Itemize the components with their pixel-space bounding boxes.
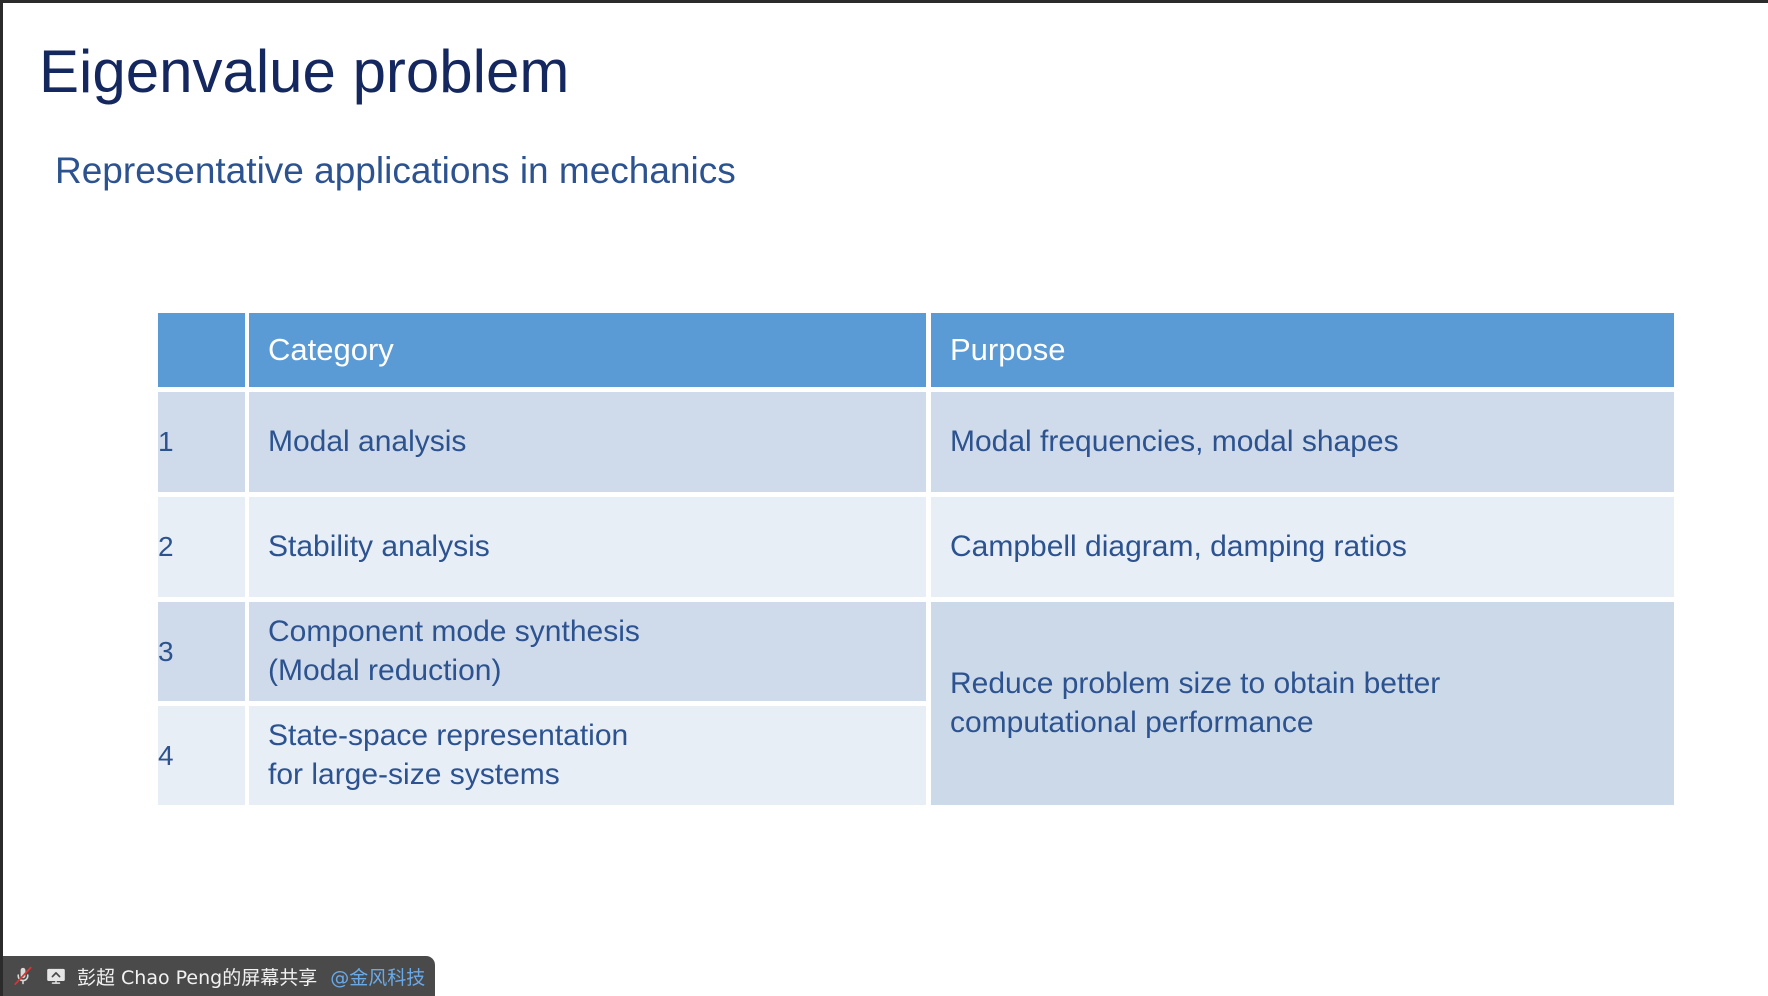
row-number: 3 [158,597,245,701]
applications-table: Category Purpose 1 Modal analysis Modal … [158,313,1674,805]
slide-canvas: Eigenvalue problem Representative applic… [0,0,1768,996]
merged-purpose-cell: Reduce problem size to obtain better com… [926,597,1674,805]
row-purpose-text: Campbell diagram, damping ratios [931,528,1674,566]
row-purpose-text: Modal frequencies, modal shapes [931,423,1674,461]
table-row: 3 Component mode synthesis (Modal reduct… [158,597,1674,701]
row-category-line-2: (Modal reduction) [268,652,926,690]
row-category-line-2: for large-size systems [268,756,926,794]
row-number: 2 [158,492,245,597]
screen-share-icon[interactable] [44,964,68,988]
row-category-text: Stability analysis [249,528,926,566]
page-title: Eigenvalue problem [39,39,569,105]
row-category-text: Modal analysis [249,423,926,461]
row-category-line-1: Component mode synthesis [268,613,926,651]
screen-share-status-bar[interactable]: 彭超 Chao Peng的屏幕共享 @金风科技 [3,956,435,996]
column-header-number [158,313,245,387]
row-category-line-1: State-space representation [268,717,926,755]
merged-purpose-line-2: computational performance [950,704,1674,742]
page-subtitle: Representative applications in mechanics [55,151,736,192]
column-header-purpose: Purpose [926,313,1674,387]
microphone-muted-icon[interactable] [11,964,35,988]
row-purpose: Campbell diagram, damping ratios [926,492,1674,597]
row-category: State-space representation for large-siz… [245,701,926,805]
column-header-purpose-label: Purpose [931,332,1674,368]
row-category: Component mode synthesis (Modal reductio… [245,597,926,701]
table-row: 1 Modal analysis Modal frequencies, moda… [158,387,1674,492]
merged-purpose-line-1: Reduce problem size to obtain better [950,665,1674,703]
screen-share-organization: @金风科技 [330,963,425,990]
row-number: 1 [158,387,245,492]
column-header-category-label: Category [249,332,926,368]
table-header-row: Category Purpose [158,313,1674,387]
row-number: 4 [158,701,245,805]
row-purpose: Modal frequencies, modal shapes [926,387,1674,492]
row-category: Stability analysis [245,492,926,597]
table-row: 2 Stability analysis Campbell diagram, d… [158,492,1674,597]
column-header-category: Category [245,313,926,387]
screen-share-label: 彭超 Chao Peng的屏幕共享 [77,963,317,990]
row-category: Modal analysis [245,387,926,492]
